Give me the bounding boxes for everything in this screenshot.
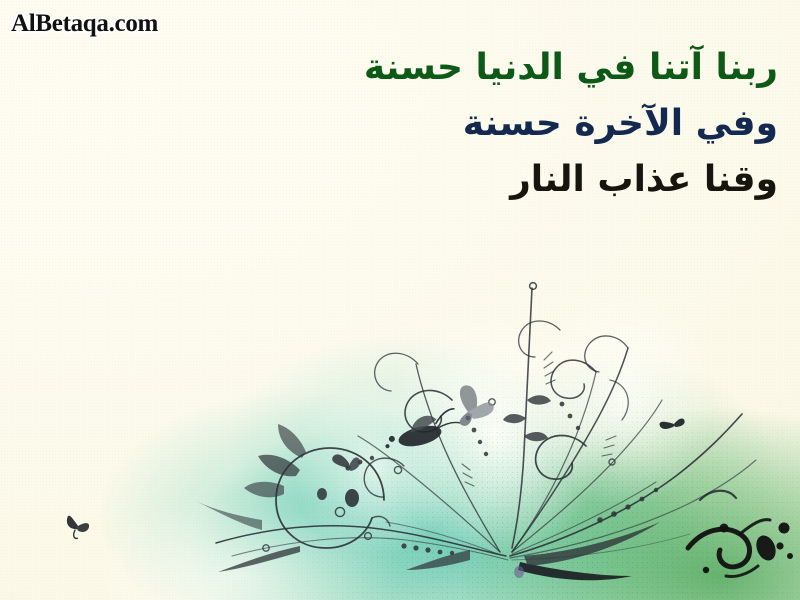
poster-canvas: AlBetaqa.com ربنا آتنا في الدنيا حسنة وف…: [0, 0, 800, 600]
butterfly-group: [64, 384, 686, 540]
watermark-albetaqa: AlBetaqa.com: [11, 10, 158, 38]
dua-text-block: ربنا آتنا في الدنيا حسنة وفي الآخرة حسنة…: [138, 50, 778, 198]
accent-dot: [514, 566, 524, 578]
dua-line-2: وفي الآخرة حسنة: [138, 106, 778, 142]
dua-line-3: وقنا عذاب النار: [138, 162, 778, 198]
dua-line-1: ربنا آتنا في الدنيا حسنة: [138, 50, 778, 86]
